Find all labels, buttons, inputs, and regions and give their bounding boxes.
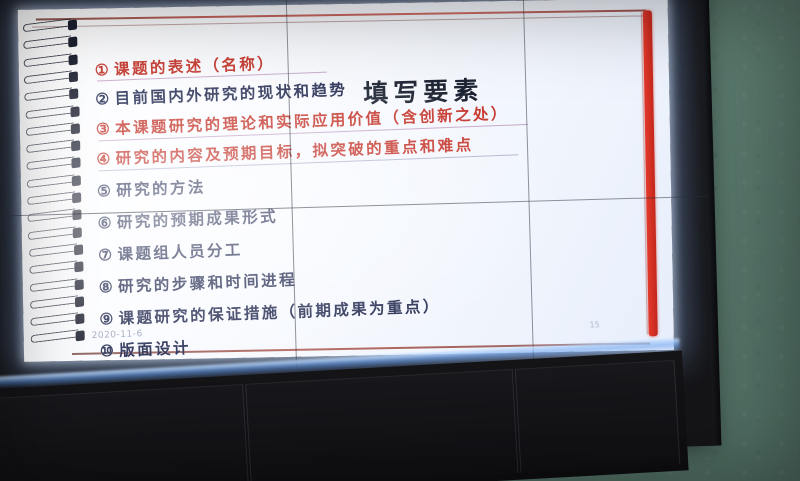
spiral-coil-cap <box>69 54 78 65</box>
page-border-top-line <box>36 9 646 20</box>
spiral-coil-wire <box>25 88 73 102</box>
spiral-coil-cap <box>74 261 83 272</box>
item-number-10: ⑩ <box>100 341 117 361</box>
spiral-coil-wire <box>26 122 74 136</box>
spiral-coil <box>31 332 89 342</box>
spiral-coil <box>23 38 81 48</box>
item-text-5: 研究的方法 <box>116 177 206 199</box>
spiral-coil-wire <box>29 261 77 275</box>
item-number-9: ⑨ <box>99 309 116 329</box>
item-number-7: ⑦ <box>98 245 115 265</box>
spiral-coil-cap <box>68 19 77 30</box>
spiral-coil-wire <box>23 36 71 50</box>
list-item-2: ②目前国内外研究的现状和趋势 <box>95 78 348 110</box>
spiral-coil <box>28 228 86 238</box>
projected-document-page: 填写要素 ①课题的表述（名称） ②目前国内外研究的现状和趋势 ③本课题研究的理论… <box>18 0 674 362</box>
spiral-coil <box>29 246 87 256</box>
spiral-coil <box>26 142 84 152</box>
spiral-coil-cap <box>72 192 81 203</box>
item-text-7: 课题组人员分工 <box>117 240 243 264</box>
item-number-3: ③ <box>96 119 113 139</box>
spiral-coil-cap <box>69 71 78 82</box>
item-text-8: 研究的步骤和时间进程 <box>118 270 298 296</box>
spiral-coil <box>27 194 85 204</box>
document-content: 填写要素 ①课题的表述（名称） ②目前国内外研究的现状和趋势 ③本课题研究的理论… <box>94 43 633 343</box>
spiral-coil <box>25 90 83 100</box>
spiral-coil-cap <box>70 89 79 100</box>
item-number-2: ② <box>95 89 112 109</box>
spiral-coil-wire <box>24 70 72 84</box>
page-number: 15 <box>589 320 600 329</box>
item-text-10: 版面设计 <box>119 338 191 360</box>
cabinet-panel-2 <box>245 369 518 481</box>
spiral-coil-wire <box>26 139 74 153</box>
spiral-coil <box>27 176 85 186</box>
spiral-coil <box>25 107 83 117</box>
spiral-coil <box>24 73 82 83</box>
spiral-coil-wire <box>27 191 75 205</box>
spiral-coil-wire <box>29 243 77 257</box>
spiral-coil-cap <box>74 244 83 255</box>
list-item-5: ⑤研究的方法 <box>97 175 207 201</box>
spiral-coil-cap <box>72 175 81 186</box>
spiral-coil-cap <box>75 313 84 324</box>
spiral-coil <box>23 21 81 31</box>
cabinet-panel-3 <box>515 360 681 473</box>
spiral-coil-wire <box>30 312 78 326</box>
spiral-coil-wire <box>25 105 73 119</box>
item-number-5: ⑤ <box>97 181 114 201</box>
spiral-coil-cap <box>73 210 82 221</box>
cabinet-panel-1 <box>0 384 249 481</box>
item-number-1: ① <box>94 60 111 80</box>
spiral-coil-cap <box>71 140 80 151</box>
video-wall-display[interactable]: 填写要素 ①课题的表述（名称） ②目前国内外研究的现状和趋势 ③本课题研究的理论… <box>0 0 714 466</box>
spiral-binding <box>22 21 90 352</box>
spiral-coil-wire <box>30 295 78 309</box>
list-item-8: ⑧研究的步骤和时间进程 <box>98 268 297 298</box>
classroom-scene: 填写要素 ①课题的表述（名称） ②目前国内外研究的现状和趋势 ③本课题研究的理论… <box>0 0 800 481</box>
spiral-coil-wire <box>30 278 78 292</box>
spiral-coil <box>29 263 87 273</box>
spiral-coil-wire <box>27 174 75 188</box>
item-number-6: ⑥ <box>97 213 114 233</box>
item-text-9: 课题研究的保证措施（前期成果为重点） <box>118 296 441 327</box>
spiral-coil <box>24 55 82 65</box>
list-item-7: ⑦课题组人员分工 <box>98 238 243 266</box>
spiral-coil-cap <box>73 227 82 238</box>
spiral-coil-cap <box>68 37 77 48</box>
spiral-coil-cap <box>75 296 84 307</box>
list-item-9: ⑨课题研究的保证措施（前期成果为重点） <box>99 294 441 329</box>
spiral-coil <box>30 297 88 307</box>
spiral-coil <box>30 315 88 325</box>
spiral-coil-cap <box>74 279 83 290</box>
spiral-coil-cap <box>71 123 80 134</box>
spiral-coil-cap <box>76 331 85 342</box>
spiral-coil-cap <box>71 158 80 169</box>
item-number-4: ④ <box>96 149 113 169</box>
spiral-coil-wire <box>31 330 79 344</box>
spiral-coil-wire <box>24 53 72 67</box>
spiral-coil-wire <box>26 157 74 171</box>
date-stamp: 2020-11-6 <box>91 329 142 341</box>
spiral-coil-wire <box>23 18 71 32</box>
spiral-coil <box>29 280 87 290</box>
item-number-8: ⑧ <box>98 277 115 297</box>
item-text-2: 目前国内外研究的现状和趋势 <box>114 80 347 108</box>
spiral-coil-cap <box>70 106 79 117</box>
spiral-coil <box>26 159 84 169</box>
spiral-coil-wire <box>28 226 76 240</box>
spiral-coil <box>26 124 84 134</box>
